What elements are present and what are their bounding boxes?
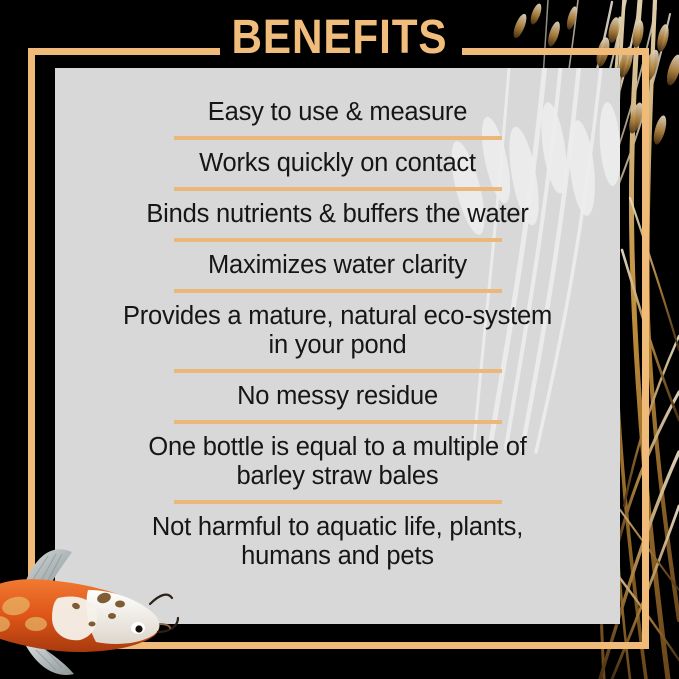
benefit-item: No messy residue (55, 382, 620, 411)
page-title: BENEFITS (41, 12, 639, 64)
benefit-item: Binds nutrients & buffers the water (55, 200, 620, 229)
benefit-divider (174, 187, 502, 191)
benefit-divider (174, 238, 502, 242)
benefit-item: One bottle is equal to a multiple of bar… (55, 433, 620, 491)
benefit-divider (174, 136, 502, 140)
benefit-item: Provides a mature, natural eco-system in… (55, 302, 620, 360)
benefit-item: Maximizes water clarity (55, 251, 620, 280)
benefit-divider (174, 420, 502, 424)
benefit-item: Works quickly on contact (55, 149, 620, 178)
benefits-list: Easy to use & measure Works quickly on c… (55, 68, 620, 571)
benefit-divider (174, 289, 502, 293)
benefit-divider (174, 500, 502, 504)
benefits-panel: Easy to use & measure Works quickly on c… (55, 68, 620, 624)
benefits-infographic: BENEFITS Easy to use & measure (0, 0, 679, 679)
benefit-item: Not harmful to aquatic life, plants, hum… (55, 513, 620, 571)
benefit-divider (174, 369, 502, 373)
benefit-item: Easy to use & measure (55, 98, 620, 127)
